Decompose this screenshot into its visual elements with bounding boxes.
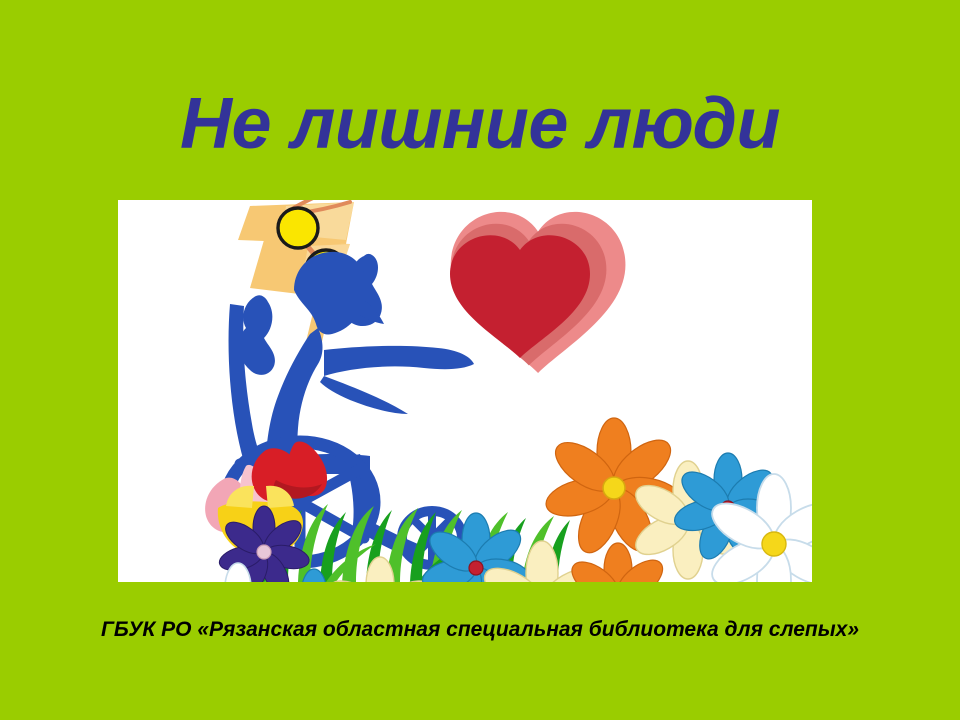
heart-icon [450,212,625,373]
illustration-artwork [118,200,812,582]
presentation-slide: Не лишние люди [0,0,960,720]
page-title: Не лишние люди [0,88,960,161]
illustration-panel [118,200,812,582]
flower-blue-daisy-mid [419,513,532,582]
organization-caption: ГБУК РО «Рязанская областная специальная… [0,618,960,642]
